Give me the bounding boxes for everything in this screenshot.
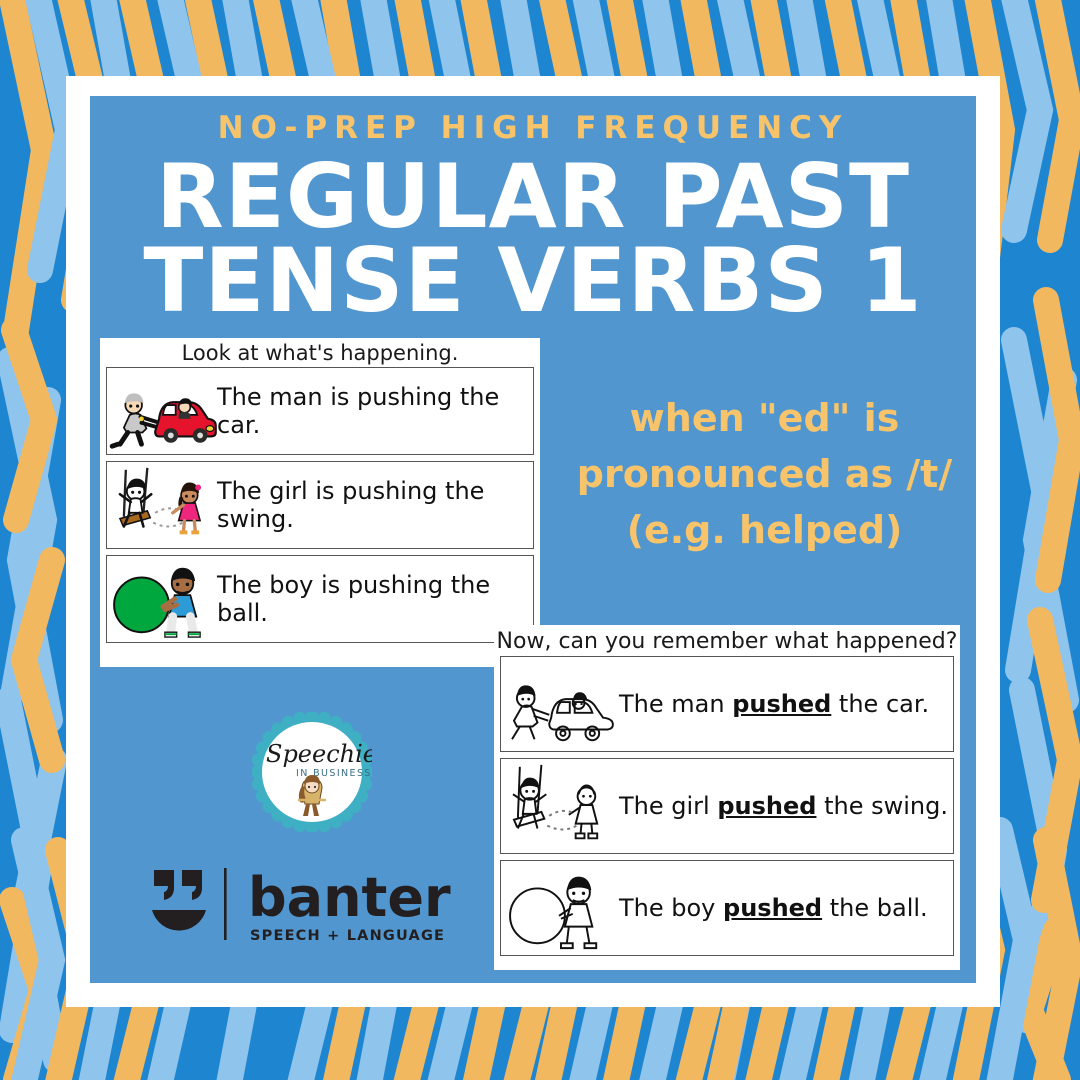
sentence-suffix: the car. [831,690,929,718]
girl-pushed-swing-icon [501,759,619,853]
worksheet-present-tense: Look at what's happening. [100,338,540,667]
worksheet-past-tense: Now, can you remember what happened? [494,625,960,970]
list-item: The boy pushed the ball. [500,860,954,956]
list-item: The man is pushing the car. [106,367,534,455]
sentence-prefix: The boy [619,894,723,922]
list-item: The girl is pushing the swing. [106,461,534,549]
worksheet-past-heading: Now, can you remember what happened? [494,625,960,654]
sentence-prefix: The girl [619,792,717,820]
list-item: The boy is pushing the ball. [106,555,534,643]
list-item-text: The boy pushed the ball. [619,894,953,922]
sentence-prefix: The man [619,690,732,718]
worksheet-present-rows: The man is pushing the car. [100,365,540,643]
sentence-verb: pushed [717,792,816,820]
list-item-text: The girl is pushing the swing. [217,477,533,533]
eyebrow-text: NO-PREP HIGH FREQUENCY [90,110,976,146]
logo-divider [224,868,227,940]
sentence-verb: pushed [723,894,822,922]
title-line-2: TENSE VERBS 1 [90,239,976,323]
banter-logo: banter SPEECH + LANGUAGE [148,866,458,952]
page-title: REGULAR PAST TENSE VERBS 1 [90,155,976,322]
girl-pushing-swing-icon [107,462,217,548]
sentence-verb: pushed [732,690,831,718]
list-item-text: The girl pushed the swing. [619,792,953,820]
boy-pushed-ball-icon [501,861,619,955]
subtitle-block: when "ed" is pronounced as /t/ (e.g. hel… [552,390,977,559]
subtitle-line-2: pronounced as /t/ [552,446,977,502]
man-pushed-car-icon [501,657,619,751]
list-item-text: The boy is pushing the ball. [217,571,533,627]
subtitle-line-1: when "ed" is [552,390,977,446]
banter-wordmark: banter [248,866,451,929]
sentence-suffix: the ball. [822,894,928,922]
list-item-text: The man pushed the car. [619,690,953,718]
speechies-badge-logo: Speechies IN BUSINESS [252,712,372,832]
list-item-text: The man is pushing the car. [217,383,533,439]
badge-name: Speechies [266,740,372,768]
sentence-suffix: the swing. [816,792,948,820]
list-item: The girl pushed the swing. [500,758,954,854]
list-item: The man pushed the car. [500,656,954,752]
banter-smiley-icon [152,870,206,931]
worksheet-present-heading: Look at what's happening. [100,338,540,365]
worksheet-past-rows: The man pushed the car. [494,654,960,956]
subtitle-line-3: (e.g. helped) [552,502,977,558]
boy-pushing-green-ball-icon [107,556,217,642]
banter-tagline: SPEECH + LANGUAGE [250,928,445,944]
man-pushing-red-car-icon [107,368,217,454]
